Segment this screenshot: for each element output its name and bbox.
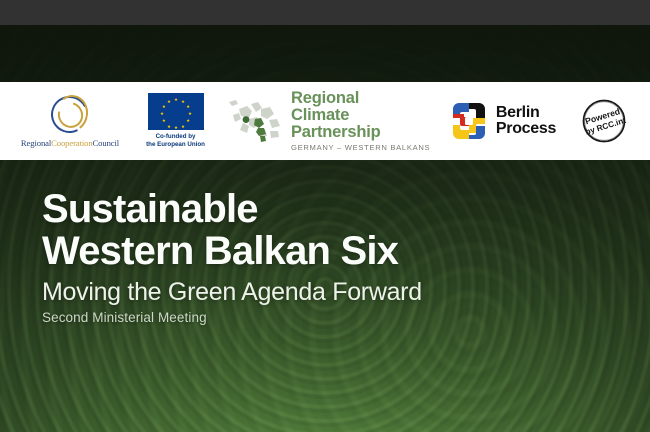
event-title-line2: Western Balkan Six	[42, 230, 602, 272]
berlin-process-line1: Berlin	[496, 105, 556, 121]
eu-caption-line2: the European Union	[146, 141, 205, 149]
event-title-line1: Sustainable	[42, 188, 602, 230]
event-banner: RegionalCooperationCouncil Co-funded by	[0, 0, 650, 432]
rcp-line1: Regional	[291, 90, 433, 107]
rcc-swirl-icon	[47, 94, 93, 136]
powered-by-rcc-stamp-icon: Powered by RCC.int	[580, 97, 628, 145]
eu-caption-line1: Co-funded by	[146, 133, 205, 141]
event-subtitle: Moving the Green Agenda Forward	[42, 278, 602, 306]
logo-regional-climate-partnership: Regional Climate Partnership GERMANY – W…	[225, 90, 433, 153]
berlin-process-wordmark: Berlin Process	[496, 105, 556, 138]
berlin-process-line2: Process	[496, 121, 556, 137]
rcc-word-council: Council	[93, 138, 120, 148]
rcp-wordmark: Regional Climate Partnership GERMANY – W…	[291, 90, 433, 153]
logo-european-union: Co-funded by the European Union	[132, 93, 220, 148]
europe-map-icon	[225, 95, 287, 147]
rcp-line3: GERMANY – WESTERN BALKANS	[291, 143, 433, 152]
event-kicker: Second Ministerial Meeting	[42, 310, 602, 325]
eu-flag-icon	[148, 93, 204, 130]
rcp-line2: Climate Partnership	[291, 107, 433, 142]
logo-powered-by-rcc: Powered by RCC.int	[572, 97, 636, 145]
letterbox-top-bar	[0, 0, 650, 25]
headline-block: Sustainable Western Balkan Six Moving th…	[42, 188, 602, 325]
logo-berlin-process: Berlin Process	[439, 101, 567, 141]
rcc-word-cooperation: Cooperation	[51, 138, 92, 148]
eu-caption: Co-funded by the European Union	[146, 133, 205, 148]
partners-logo-band: RegionalCooperationCouncil Co-funded by	[0, 82, 650, 160]
berlin-process-mark-icon	[449, 101, 489, 141]
logo-regional-cooperation-council: RegionalCooperationCouncil	[14, 94, 126, 148]
rcc-word-regional: Regional	[21, 138, 51, 148]
rcc-wordmark: RegionalCooperationCouncil	[21, 138, 119, 148]
